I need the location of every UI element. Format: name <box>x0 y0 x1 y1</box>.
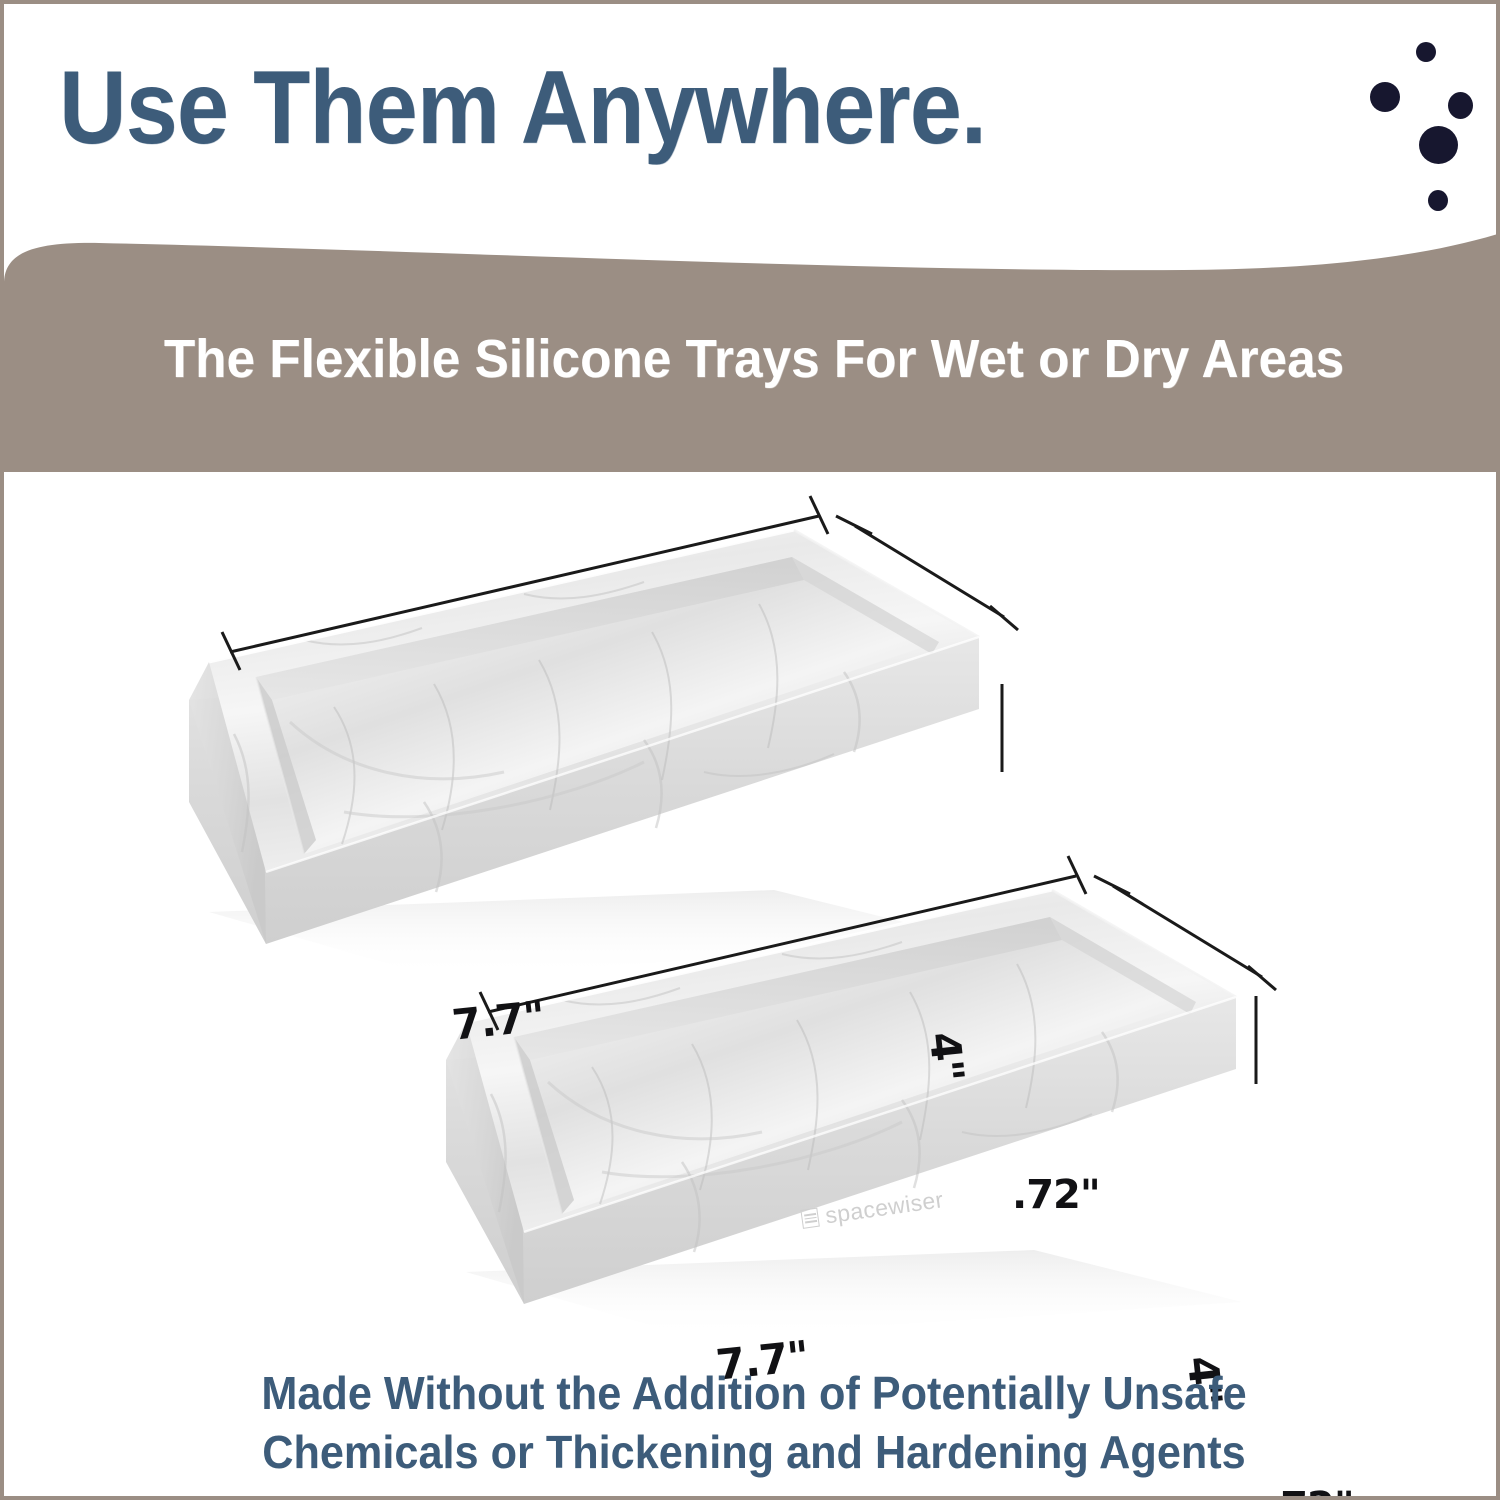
trays-vector <box>4 472 1500 1372</box>
bottom-claim-line-1: Made Without the Addition of Potentially… <box>49 1364 1459 1423</box>
dim-label-length-top: 7.7" <box>450 991 547 1049</box>
page-title: Use Them Anywhere. <box>59 56 986 160</box>
infographic-canvas: Use Them Anywhere. The Flexible Silicone… <box>0 0 1500 1500</box>
dim-label-height-top: .72" <box>1012 1172 1100 1218</box>
dim-label-width-top: 4" <box>920 1030 974 1084</box>
dot-3 <box>1448 92 1473 119</box>
spacewiser-logo-icon <box>800 1208 819 1229</box>
banner-subtitle: The Flexible Silicone Trays For Wet or D… <box>42 328 1467 390</box>
dot-4 <box>1419 126 1458 164</box>
subtitle-banner: The Flexible Silicone Trays For Wet or D… <box>4 232 1500 472</box>
bottom-claim-text: Made Without the Addition of Potentially… <box>49 1364 1459 1482</box>
dim-label-height-bottom: .72" <box>1266 1484 1354 1500</box>
tray-top-group <box>189 496 1018 977</box>
dot-1 <box>1416 42 1436 62</box>
bottom-claim-line-2: Chemicals or Thickening and Hardening Ag… <box>49 1423 1459 1482</box>
product-illustration: 7.7" 4" .72" 7.7" 4" .72" spacewiser spa… <box>4 472 1500 1372</box>
decorative-dot-cluster <box>1364 34 1494 194</box>
dot-5 <box>1428 190 1448 211</box>
dot-2 <box>1370 82 1400 112</box>
